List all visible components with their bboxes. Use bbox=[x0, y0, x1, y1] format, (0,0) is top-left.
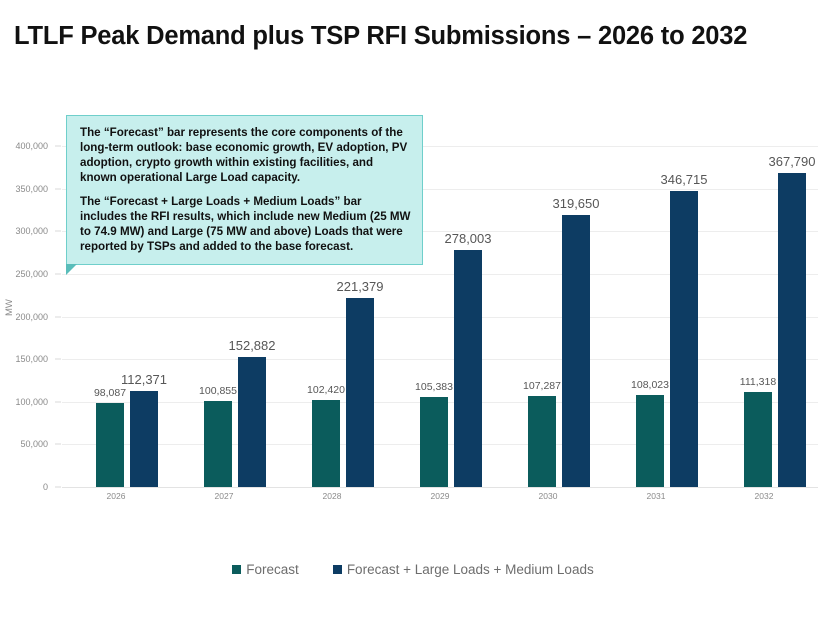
y-axis-tick-label: 50,000 bbox=[0, 439, 48, 449]
x-axis-tick-label: 2028 bbox=[278, 491, 386, 501]
annotation-paragraph-2: The “Forecast + Large Loads + Medium Loa… bbox=[80, 194, 411, 254]
y-axis-tick-label: 250,000 bbox=[0, 269, 48, 279]
bar-value-label: 152,882 bbox=[229, 338, 276, 353]
y-axis-tick-mark bbox=[55, 401, 61, 402]
bar-value-label: 221,379 bbox=[337, 279, 384, 294]
bar-value-label: 278,003 bbox=[445, 231, 492, 246]
legend-label: Forecast + Large Loads + Medium Loads bbox=[347, 562, 594, 577]
legend-item-forecast-plus-loads[interactable]: Forecast + Large Loads + Medium Loads bbox=[333, 562, 594, 577]
bar-forecast-plus-loads[interactable]: 221,379 bbox=[346, 298, 374, 487]
bar-forecast[interactable]: 102,420 bbox=[312, 400, 340, 487]
bar-forecast[interactable]: 108,023 bbox=[636, 395, 664, 487]
bar-value-label: 367,790 bbox=[769, 154, 816, 169]
x-axis-tick-label: 2027 bbox=[170, 491, 278, 501]
bar-value-label: 111,318 bbox=[740, 376, 776, 388]
y-axis-tick-mark bbox=[55, 231, 61, 232]
legend-item-forecast[interactable]: Forecast bbox=[232, 562, 299, 577]
bar-forecast-plus-loads[interactable]: 112,371 bbox=[130, 391, 158, 487]
y-axis-tick-mark bbox=[55, 146, 61, 147]
slide-root: LTLF Peak Demand plus TSP RFI Submission… bbox=[0, 0, 826, 620]
legend-swatch-icon bbox=[232, 565, 241, 574]
bar-forecast[interactable]: 105,383 bbox=[420, 397, 448, 487]
y-axis-tick-label: 350,000 bbox=[0, 184, 48, 194]
y-axis-tick-label: 300,000 bbox=[0, 226, 48, 236]
bar-value-label: 107,287 bbox=[523, 380, 561, 392]
bar-forecast[interactable]: 107,287 bbox=[528, 396, 556, 487]
page-title: LTLF Peak Demand plus TSP RFI Submission… bbox=[14, 22, 814, 51]
annotation-callout: The “Forecast” bar represents the core c… bbox=[66, 115, 423, 265]
bar-forecast-plus-loads[interactable]: 278,003 bbox=[454, 250, 482, 487]
y-axis-tick-mark bbox=[55, 444, 61, 445]
bar-value-label: 319,650 bbox=[553, 196, 600, 211]
bar-group: 108,023346,7152031 bbox=[602, 146, 710, 487]
y-axis-tick-mark bbox=[55, 316, 61, 317]
bar-value-label: 105,383 bbox=[415, 381, 453, 393]
bar-forecast-plus-loads[interactable]: 367,790 bbox=[778, 173, 806, 487]
bar-group: 111,318367,7902032 bbox=[710, 146, 818, 487]
y-axis-tick-mark bbox=[55, 188, 61, 189]
y-axis-tick-mark bbox=[55, 273, 61, 274]
bar-forecast[interactable]: 111,318 bbox=[744, 392, 772, 487]
bar-value-label: 98,087 bbox=[94, 387, 126, 399]
legend-swatch-icon bbox=[333, 565, 342, 574]
y-axis-tick-mark bbox=[55, 487, 61, 488]
bar-value-label: 102,420 bbox=[307, 384, 345, 396]
x-axis-tick-label: 2032 bbox=[710, 491, 818, 501]
bar-value-label: 108,023 bbox=[631, 379, 669, 391]
y-axis-tick-label: 400,000 bbox=[0, 141, 48, 151]
bar-forecast[interactable]: 98,087 bbox=[96, 403, 124, 487]
bar-value-label: 112,371 bbox=[121, 372, 167, 387]
gridline bbox=[62, 487, 818, 488]
bar-forecast-plus-loads[interactable]: 346,715 bbox=[670, 191, 698, 487]
bar-forecast-plus-loads[interactable]: 319,650 bbox=[562, 215, 590, 488]
x-axis-tick-label: 2031 bbox=[602, 491, 710, 501]
annotation-tail-icon bbox=[66, 264, 77, 275]
x-axis-tick-label: 2030 bbox=[494, 491, 602, 501]
y-axis-tick-label: 200,000 bbox=[0, 312, 48, 322]
bar-value-label: 100,855 bbox=[199, 385, 237, 397]
bar-forecast[interactable]: 100,855 bbox=[204, 401, 232, 487]
chart-legend: Forecast Forecast + Large Loads + Medium… bbox=[0, 562, 826, 577]
bar-value-label: 346,715 bbox=[661, 172, 708, 187]
y-axis-tick-label: 150,000 bbox=[0, 354, 48, 364]
bar-forecast-plus-loads[interactable]: 152,882 bbox=[238, 357, 266, 487]
y-axis-tick-mark bbox=[55, 359, 61, 360]
bar-group: 107,287319,6502030 bbox=[494, 146, 602, 487]
y-axis-tick-label: 0 bbox=[0, 482, 48, 492]
x-axis-tick-label: 2026 bbox=[62, 491, 170, 501]
y-axis-tick-label: 100,000 bbox=[0, 397, 48, 407]
legend-label: Forecast bbox=[246, 562, 299, 577]
x-axis-tick-label: 2029 bbox=[386, 491, 494, 501]
annotation-paragraph-1: The “Forecast” bar represents the core c… bbox=[80, 125, 411, 185]
